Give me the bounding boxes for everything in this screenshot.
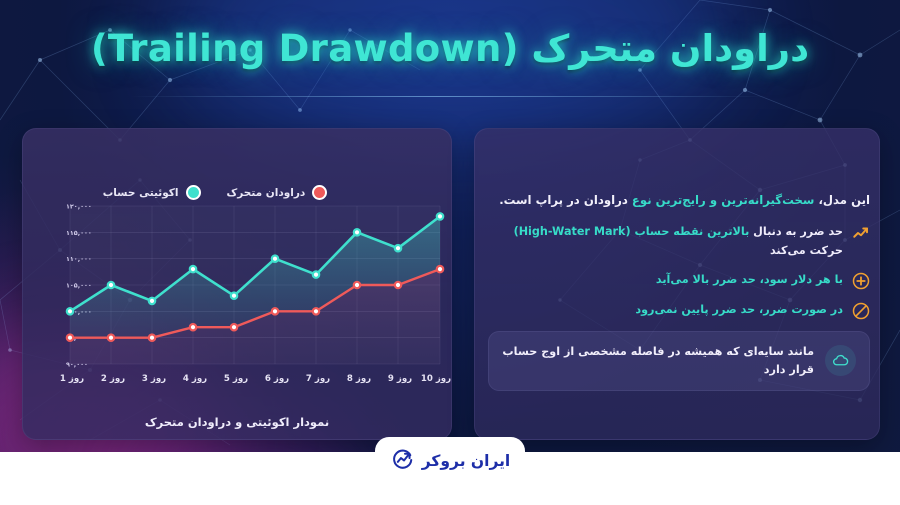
- note-text: مانند سایه‌ای که همیشه در فاصله مشخصی از…: [502, 343, 814, 379]
- svg-text:روز 1: روز 1: [60, 374, 84, 384]
- legend-dot-red: [312, 185, 327, 200]
- legend-label-equity: اکوئیتی حساب: [103, 187, 179, 199]
- lead-highlight: سخت‌گیرانه‌ترین و رایج‌ترین نوع: [632, 193, 814, 207]
- page-title: دراودان متحرک (Trailing Drawdown): [0, 27, 900, 70]
- chart-legend: دراودان متحرک اکوئیتی حساب: [0, 185, 430, 200]
- header: دراودان متحرک (Trailing Drawdown): [0, 0, 900, 110]
- svg-text:روز 5: روز 5: [224, 374, 248, 384]
- info-content: این مدل، سخت‌گیرانه‌ترین و رایج‌ترین نوع…: [488, 190, 870, 391]
- trending-up-icon: [852, 224, 870, 242]
- x-axis-tick-labels: روز 1 روز 2 روز 3 روز 4 روز 5 روز 6 روز …: [60, 374, 451, 384]
- shadow-analogy-note: مانند سایه‌ای که همیشه در فاصله مشخصی از…: [488, 331, 870, 391]
- chart-circle-logo-icon: [390, 447, 415, 476]
- legend-item-equity[interactable]: اکوئیتی حساب: [103, 185, 201, 200]
- legend-item-drawdown[interactable]: دراودان متحرک: [227, 185, 328, 200]
- cloud-icon: [825, 345, 856, 376]
- title-divider: [130, 96, 770, 97]
- circle-slash-icon: [852, 302, 870, 320]
- circle-plus-icon: [852, 272, 870, 290]
- logo-text: ایران بروکر: [422, 452, 510, 470]
- bullet-loss-no-lower: در صورت ضرر، حد ضرر پایین نمی‌رود: [488, 301, 870, 320]
- svg-text:۱۰۵,۰۰۰: ۱۰۵,۰۰۰: [66, 282, 92, 290]
- svg-text:روز 6: روز 6: [265, 374, 289, 384]
- lead-part1: این مدل،: [814, 193, 870, 207]
- svg-text:روز 9: روز 9: [388, 374, 412, 384]
- bullet1-part2: حرکت می‌کند: [770, 244, 843, 257]
- bullet-high-water-mark: حد ضرر به دنبال بالاترین نقطه حساب (High…: [488, 223, 870, 259]
- svg-text:روز 4: روز 4: [183, 374, 207, 384]
- svg-text:روز 2: روز 2: [101, 374, 125, 384]
- lead-part2: دراودان در پراپ است.: [499, 193, 632, 207]
- legend-label-drawdown: دراودان متحرک: [227, 187, 306, 199]
- svg-text:روز 8: روز 8: [347, 374, 371, 384]
- bullet-text-loss-no-lower: در صورت ضرر، حد ضرر پایین نمی‌رود: [635, 301, 843, 319]
- lead-paragraph: این مدل، سخت‌گیرانه‌ترین و رایج‌ترین نوع…: [488, 190, 870, 210]
- bullet1-part1: حد ضرر به دنبال: [749, 225, 843, 238]
- bullet-profit-raises-stop: با هر دلار سود، حد ضرر بالا می‌آید: [488, 271, 870, 290]
- svg-text:۱۱۵,۰۰۰: ۱۱۵,۰۰۰: [66, 229, 92, 237]
- equity-drawdown-line-chart: ۱۲۰,۰۰۰ ۱۱۵,۰۰۰ ۱۱۰,۰۰۰ ۱۰۵,۰۰۰ ۱۰۰,۰۰۰ …: [22, 200, 452, 400]
- bullet-text-profit-raises-stop: با هر دلار سود، حد ضرر بالا می‌آید: [656, 271, 843, 289]
- bullet-text-high-water-mark: حد ضرر به دنبال بالاترین نقطه حساب (High…: [488, 223, 843, 259]
- bullet1-highlight: بالاترین نقطه حساب (High-Water Mark): [514, 225, 750, 238]
- chart-caption: نمودار اکوئیتی و دراودان متحرک: [22, 415, 452, 429]
- svg-text:۱۱۰,۰۰۰: ۱۱۰,۰۰۰: [66, 255, 92, 263]
- legend-dot-teal: [186, 185, 201, 200]
- infographic-canvas: دراودان متحرک (Trailing Drawdown) دراودا…: [0, 0, 900, 505]
- brand-logo[interactable]: ایران بروکر: [375, 437, 525, 485]
- svg-text:۱۲۰,۰۰۰: ۱۲۰,۰۰۰: [66, 203, 92, 211]
- svg-text:روز 3: روز 3: [142, 374, 166, 384]
- svg-text:روز 10: روز 10: [421, 374, 451, 384]
- svg-text:روز 7: روز 7: [306, 374, 330, 384]
